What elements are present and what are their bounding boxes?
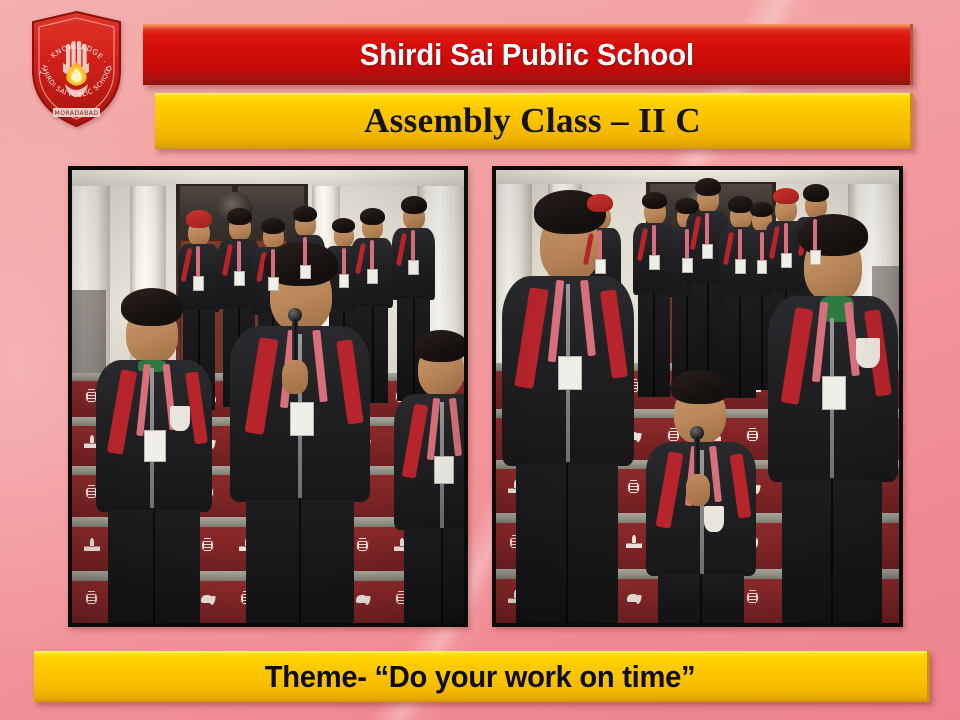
photo-left-content bbox=[72, 170, 464, 623]
presentation-slide: FAITH · KNOWLEDGE · DUTY SHIRDI SAI PUBL… bbox=[0, 0, 960, 720]
theme-text: Theme- “Do your work on time” bbox=[265, 659, 696, 695]
school-crest-logo: FAITH · KNOWLEDGE · DUTY SHIRDI SAI PUBL… bbox=[25, 8, 128, 130]
assembly-theme-banner: Theme- “Do your work on time” bbox=[34, 651, 930, 702]
school-name-banner: Shirdi Sai Public School bbox=[143, 24, 913, 85]
photo-right-content bbox=[496, 170, 899, 623]
assembly-photo-left bbox=[68, 166, 468, 627]
assembly-class-banner: Assembly Class – II C bbox=[155, 93, 913, 149]
svg-text:MORADABAD: MORADABAD bbox=[55, 110, 99, 117]
assembly-photo-right bbox=[492, 166, 903, 627]
page-subtitle: Assembly Class – II C bbox=[364, 101, 701, 141]
crest-shield-icon: FAITH · KNOWLEDGE · DUTY SHIRDI SAI PUBL… bbox=[25, 8, 128, 130]
page-title: Shirdi Sai Public School bbox=[359, 37, 693, 73]
